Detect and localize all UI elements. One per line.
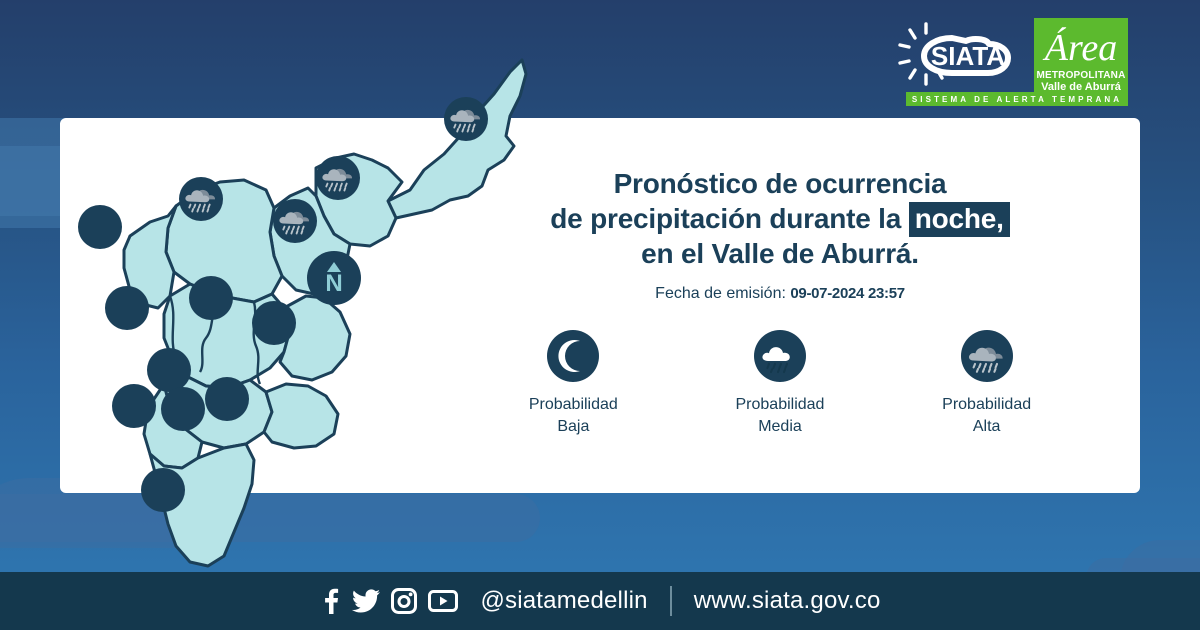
cloud-rain-moon-icon	[754, 330, 806, 382]
sun-cloud-icon: SIATA	[896, 18, 1024, 90]
marker-copacabana-alta[interactable]	[273, 199, 317, 243]
legend-item-media: Probabilidad Media	[690, 330, 870, 438]
infographic-root: SIATA Área METROPOLITANA Valle de Aburrá…	[0, 0, 1200, 630]
map-markers	[78, 97, 488, 512]
siata-logo: SIATA	[896, 18, 1024, 90]
valle-de-aburra-map: N	[58, 50, 528, 570]
title-block: Pronóstico de ocurrencia de precipitació…	[470, 166, 1090, 303]
issue-date-label: Fecha de emisión:	[655, 285, 786, 302]
moon-icon	[547, 330, 599, 382]
legend: Probabilidad Baja	[470, 330, 1090, 438]
compass-label: N	[325, 270, 342, 297]
marker-caldas-norte-baja[interactable]	[161, 387, 205, 431]
area-metropolitana-logo: Área METROPOLITANA Valle de Aburrá	[1034, 18, 1128, 96]
cloud-rain-icon	[961, 330, 1013, 382]
marker-medellin-baja[interactable]	[189, 276, 233, 320]
marker-sabaneta-baja[interactable]	[205, 377, 249, 421]
marker-barbosa-alta[interactable]	[444, 97, 488, 141]
legend-alta-line1: Probabilidad	[897, 394, 1077, 416]
issue-date-value: 09-07-2024 23:57	[790, 285, 904, 302]
title-highlight-noche: noche,	[909, 202, 1010, 237]
social-icons	[319, 588, 458, 614]
footer-bar: @siatamedellin www.siata.gov.co	[0, 572, 1200, 630]
page-title: Pronóstico de ocurrencia de precipitació…	[470, 166, 1090, 271]
youtube-icon[interactable]	[428, 590, 458, 612]
twitter-icon[interactable]	[352, 588, 380, 614]
tagline-bar: SISTEMA DE ALERTA TEMPRANA	[906, 92, 1128, 106]
marker-la-estrella-baja[interactable]	[112, 384, 156, 428]
municipality-sabaneta	[264, 384, 338, 448]
instagram-icon[interactable]	[391, 588, 417, 614]
marker-itagui-baja[interactable]	[147, 348, 191, 392]
marker-bello-baja[interactable]	[105, 286, 149, 330]
legend-alta-line2: Alta	[897, 416, 1077, 438]
marker-envigado-baja[interactable]	[252, 301, 296, 345]
marker-san-pedro-baja[interactable]	[78, 205, 122, 249]
title-line-2-pre: de precipitación durante la	[550, 203, 908, 234]
compass-north-icon: N	[307, 251, 361, 305]
website-url[interactable]: www.siata.gov.co	[694, 587, 881, 615]
legend-media-line1: Probabilidad	[690, 394, 870, 416]
footer-divider	[670, 586, 672, 616]
social-handle[interactable]: @siatamedellin	[480, 587, 647, 615]
logo-group: SIATA Área METROPOLITANA Valle de Aburrá	[896, 18, 1128, 96]
area-script-icon: Área	[1034, 20, 1128, 72]
marker-bello-norte-alta[interactable]	[179, 177, 223, 221]
legend-media-line2: Media	[690, 416, 870, 438]
title-line-2: de precipitación durante la noche,	[470, 201, 1090, 236]
area-script-text: Área	[1042, 27, 1117, 69]
legend-item-alta: Probabilidad Alta	[897, 330, 1077, 438]
marker-girardota-alta[interactable]	[316, 156, 360, 200]
siata-wordmark: SIATA	[931, 41, 1005, 71]
title-line-1: Pronóstico de ocurrencia	[470, 166, 1090, 201]
marker-caldas-baja[interactable]	[141, 468, 185, 512]
issue-date: Fecha de emisión: 09-07-2024 23:57	[470, 285, 1090, 303]
tagline-text: SISTEMA DE ALERTA TEMPRANA	[912, 95, 1122, 104]
facebook-icon[interactable]	[319, 588, 341, 614]
title-line-3: en el Valle de Aburrá.	[470, 236, 1090, 271]
